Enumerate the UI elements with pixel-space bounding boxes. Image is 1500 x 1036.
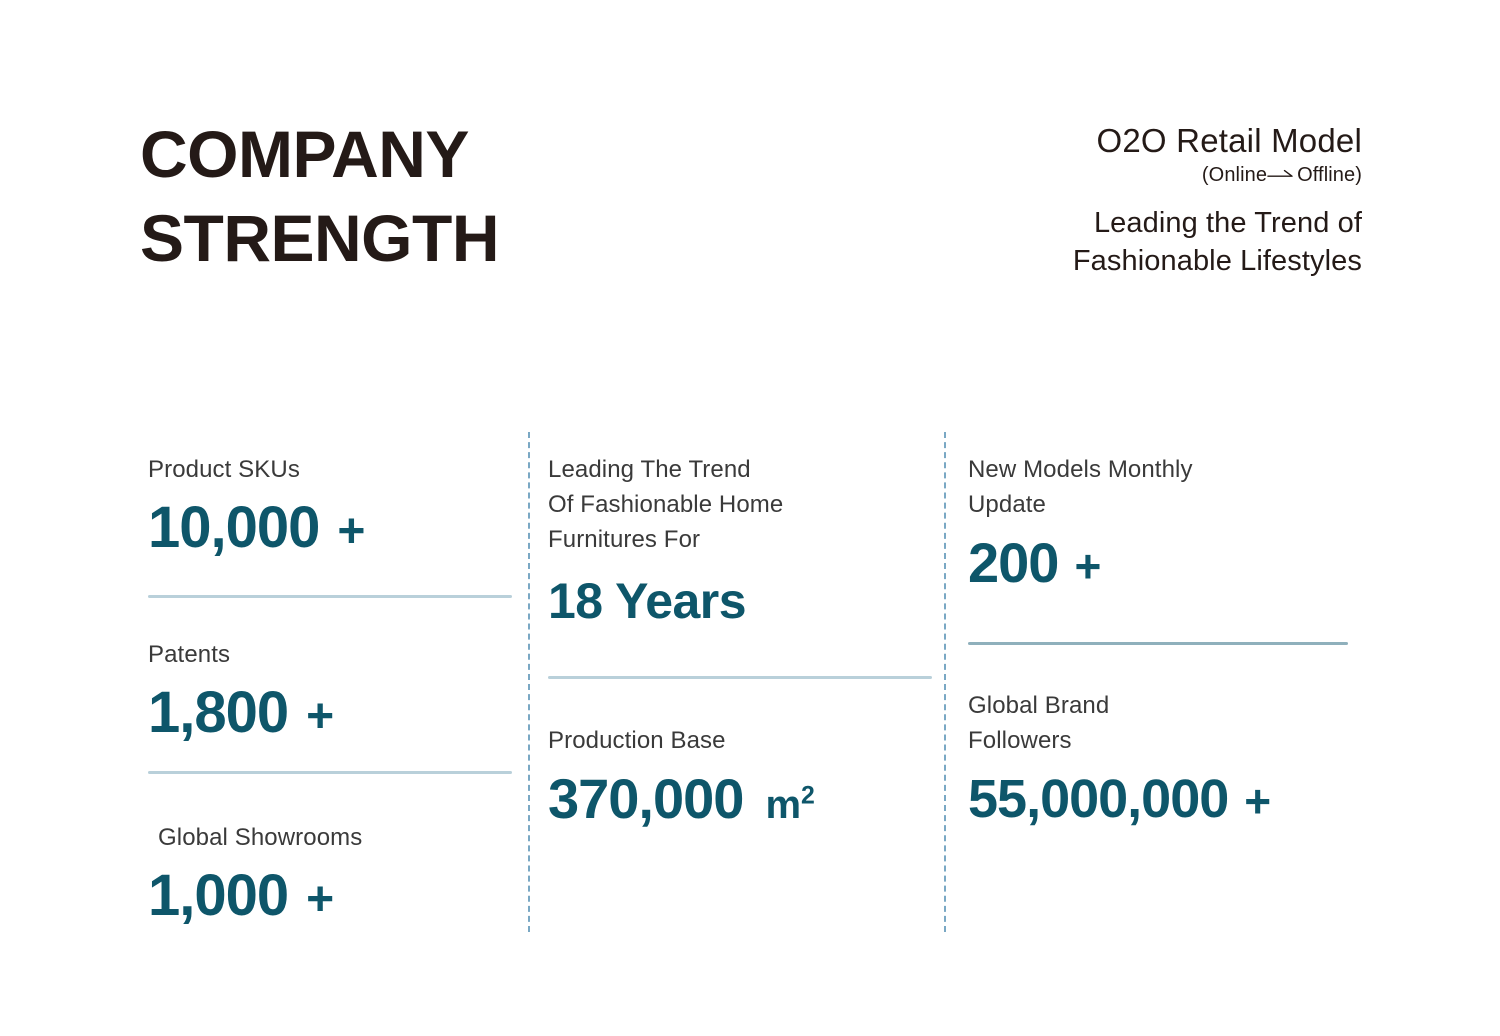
stat-product-skus-number: 10,000 <box>148 495 319 560</box>
o2o-subtitle-offline: Offline) <box>1297 164 1362 186</box>
stat-production-base: Production Base 370,000m2 <box>548 723 934 840</box>
stat-new-models-label: New Models Monthly Update <box>968 452 1350 522</box>
stat-new-models-label-line-2: Update <box>968 487 1350 522</box>
stat-patents-number: 1,800 <box>148 680 288 745</box>
header-tagline: Leading the Trend of Fashionable Lifesty… <box>842 204 1362 280</box>
stat-years-value: 18 Years <box>548 569 934 633</box>
stat-global-showrooms-number: 1,000 <box>148 863 288 928</box>
stat-new-models-suffix: + <box>1074 540 1101 592</box>
page-title-line-2: STRENGTH <box>140 196 700 280</box>
o2o-model-subtitle: (Online Offline) <box>842 162 1362 188</box>
stat-production-base-unit: m2 <box>765 783 814 827</box>
stat-new-models-monthly: New Models Monthly Update 200+ <box>968 452 1350 601</box>
header-tagline-line-2: Fashionable Lifestyles <box>842 242 1362 280</box>
stat-followers-label-line-1: Global Brand <box>968 688 1368 723</box>
stat-production-base-value: 370,000m2 <box>548 764 934 840</box>
page-title-line-1: COMPANY <box>140 112 700 196</box>
stat-followers-suffix: + <box>1244 775 1271 827</box>
stat-production-base-label: Production Base <box>548 723 934 758</box>
divider-rule-middle-1 <box>548 676 932 679</box>
stat-product-skus-label: Product SKUs <box>148 452 514 487</box>
stat-global-showrooms-suffix: + <box>306 873 334 926</box>
stat-followers-value: 55,000,000+ <box>968 764 1368 836</box>
stat-patents-suffix: + <box>306 690 334 743</box>
stat-global-showrooms: Global Showrooms 1,000+ <box>158 820 518 935</box>
stat-production-base-unit-text: m <box>765 783 801 827</box>
stat-patents-value: 1,800+ <box>148 678 514 752</box>
stat-product-skus-value: 10,000+ <box>148 493 514 567</box>
stat-years-label-line-2: Of Fashionable Home <box>548 487 934 522</box>
stat-followers-number: 55,000,000 <box>968 769 1228 829</box>
stat-years-label-line-3: Furnitures For <box>548 522 934 557</box>
o2o-subtitle-online: (Online <box>1202 164 1267 186</box>
stats-section: Product SKUs 10,000+ Patents 1,800+ Glob… <box>0 430 1500 935</box>
stat-production-base-unit-exponent: 2 <box>801 783 815 810</box>
stat-years-label: Leading The Trend Of Fashionable Home Fu… <box>548 452 934 557</box>
divider-rule-left-2 <box>148 771 512 774</box>
header-right-block: O2O Retail Model (Online Offline) Leadin… <box>842 120 1362 280</box>
arrow-right-icon <box>1267 169 1297 179</box>
stat-product-skus-suffix: + <box>337 505 365 558</box>
o2o-model-title: O2O Retail Model <box>842 120 1362 161</box>
stat-global-brand-followers: Global Brand Followers 55,000,000+ <box>968 688 1368 836</box>
column-divider-left <box>528 432 530 932</box>
stat-global-showrooms-label: Global Showrooms <box>158 820 518 855</box>
stat-new-models-number: 200 <box>968 531 1058 594</box>
stat-production-base-number: 370,000 <box>548 767 743 830</box>
stat-global-showrooms-value: 1,000+ <box>148 861 518 935</box>
stat-years-label-line-1: Leading The Trend <box>548 452 934 487</box>
header-tagline-line-1: Leading the Trend of <box>842 204 1362 242</box>
divider-rule-left-1 <box>148 595 512 598</box>
stat-new-models-label-line-1: New Models Monthly <box>968 452 1350 487</box>
stat-new-models-value: 200+ <box>968 528 1350 601</box>
stat-followers-label-line-2: Followers <box>968 723 1368 758</box>
column-divider-right <box>944 432 946 932</box>
stat-patents-label: Patents <box>148 637 514 672</box>
divider-rule-right-1 <box>968 642 1348 645</box>
stat-patents: Patents 1,800+ <box>148 637 514 752</box>
page-title: COMPANY STRENGTH <box>140 112 700 280</box>
stat-years-leading-trend: Leading The Trend Of Fashionable Home Fu… <box>548 452 934 633</box>
stat-followers-label: Global Brand Followers <box>968 688 1368 758</box>
stat-product-skus: Product SKUs 10,000+ <box>148 452 514 567</box>
